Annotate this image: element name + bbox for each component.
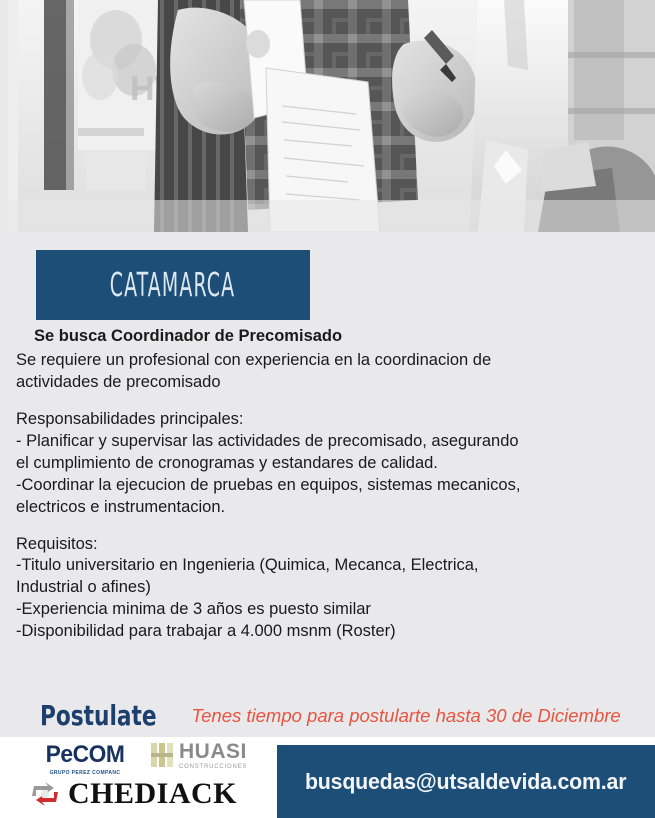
responsibility-line: el cumplimiento de cronogramas y estanda… bbox=[16, 453, 646, 475]
chediack-wordmark: CHEDIACK bbox=[68, 779, 237, 809]
responsibility-line: - Planificar y supervisar las actividade… bbox=[16, 431, 646, 453]
spacer bbox=[16, 394, 646, 409]
pecom-wordmark: PeCOM bbox=[29, 741, 141, 769]
responsibility-line: -Coordinar la ejecucion de pruebas en eq… bbox=[16, 475, 646, 497]
requirement-line: -Experiencia minima de 3 años es puesto … bbox=[16, 599, 646, 621]
requirement-line: Industrial o afines) bbox=[16, 577, 646, 599]
job-description: Se busca Coordinador de Precomisado Se r… bbox=[16, 326, 646, 643]
location-banner-label: CATAMARCA bbox=[110, 266, 236, 304]
contact-email-bar[interactable]: busquedas@utsaldevida.com.ar bbox=[277, 745, 655, 818]
intro-line: Se requiere un profesional con experienc… bbox=[16, 350, 646, 372]
requirements-section: Requisitos: -Titulo universitario en Ing… bbox=[16, 534, 646, 644]
huasi-building-icon bbox=[150, 741, 176, 769]
spacer bbox=[16, 519, 646, 534]
responsibilities-section: Responsabilidades principales: - Planifi… bbox=[16, 409, 646, 519]
location-banner: CATAMARCA bbox=[36, 250, 310, 320]
pecom-tagline: GRUPO PEREZ COMPANC bbox=[26, 770, 144, 776]
responsibilities-title: Responsabilidades principales: bbox=[16, 409, 646, 431]
pecom-logo: PeCOM GRUPO PEREZ COMPANC bbox=[26, 741, 144, 776]
intro-paragraph: Se requiere un profesional con experienc… bbox=[16, 350, 646, 394]
responsibility-line: electricos e instrumentacion. bbox=[16, 497, 646, 519]
contact-email[interactable]: busquedas@utsaldevida.com.ar bbox=[305, 769, 626, 795]
huasi-logo: HUASI CONSTRUCCIONES bbox=[150, 741, 247, 770]
job-posting-poster: HW bbox=[0, 0, 655, 818]
chediack-logo: CHEDIACK bbox=[28, 779, 237, 809]
requirement-line: -Disponibilidad para trabajar a 4.000 ms… bbox=[16, 621, 646, 643]
chediack-arrows-icon bbox=[28, 780, 62, 808]
workers-reviewing-documents-photo: HW bbox=[8, 0, 655, 232]
requirements-title: Requisitos: bbox=[16, 534, 646, 556]
footer: PeCOM GRUPO PEREZ COMPANC HUASI CONSTRUC… bbox=[0, 737, 655, 818]
apply-label[interactable]: Postulate bbox=[40, 699, 157, 732]
job-title-headline: Se busca Coordinador de Precomisado bbox=[16, 326, 646, 348]
huasi-text-block: HUASI CONSTRUCCIONES bbox=[179, 741, 247, 770]
requirement-line: -Titulo universitario en Ingenieria (Qui… bbox=[16, 555, 646, 577]
intro-line: actividades de precomisado bbox=[16, 372, 646, 394]
sponsor-logos: PeCOM GRUPO PEREZ COMPANC HUASI CONSTRUC… bbox=[0, 737, 277, 818]
hero-photo: HW bbox=[8, 0, 655, 232]
deadline-note: Tenes tiempo para postularte hasta 30 de… bbox=[192, 705, 621, 727]
huasi-tagline: CONSTRUCCIONES bbox=[179, 764, 247, 770]
huasi-wordmark: HUASI bbox=[179, 741, 247, 762]
call-to-action-row: Postulate Tenes tiempo para postularte h… bbox=[0, 694, 655, 737]
